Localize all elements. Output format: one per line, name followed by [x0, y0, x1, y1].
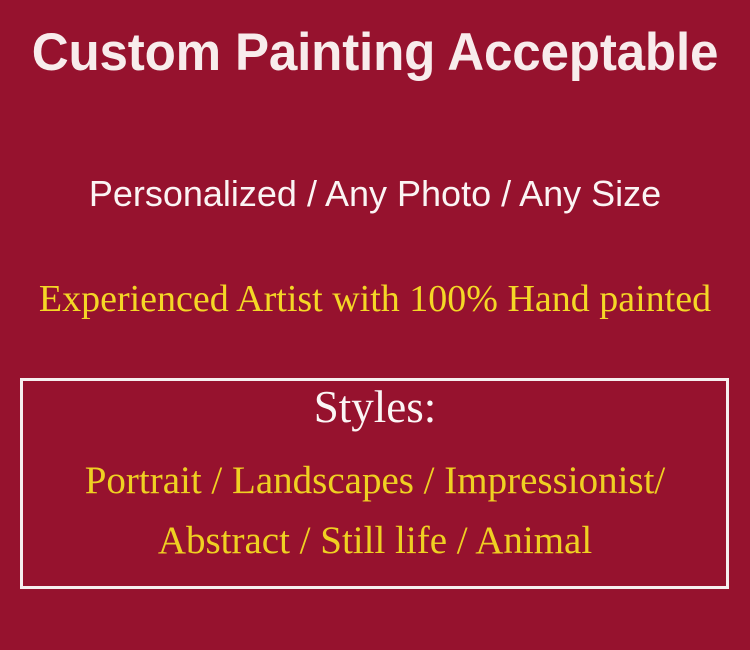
styles-list-line: Portrait / Landscapes / Impressionist/: [0, 458, 750, 504]
subtitle-options: Personalized / Any Photo / Any Size: [0, 173, 750, 215]
styles-heading: Styles:: [0, 382, 750, 432]
artist-guarantee-text: Experienced Artist with 100% Hand painte…: [0, 277, 750, 321]
page-title: Custom Painting Acceptable: [13, 24, 737, 82]
styles-list-line: Abstract / Still life / Animal: [0, 518, 750, 564]
promo-banner: Custom Painting Acceptable Personalized …: [0, 0, 750, 650]
